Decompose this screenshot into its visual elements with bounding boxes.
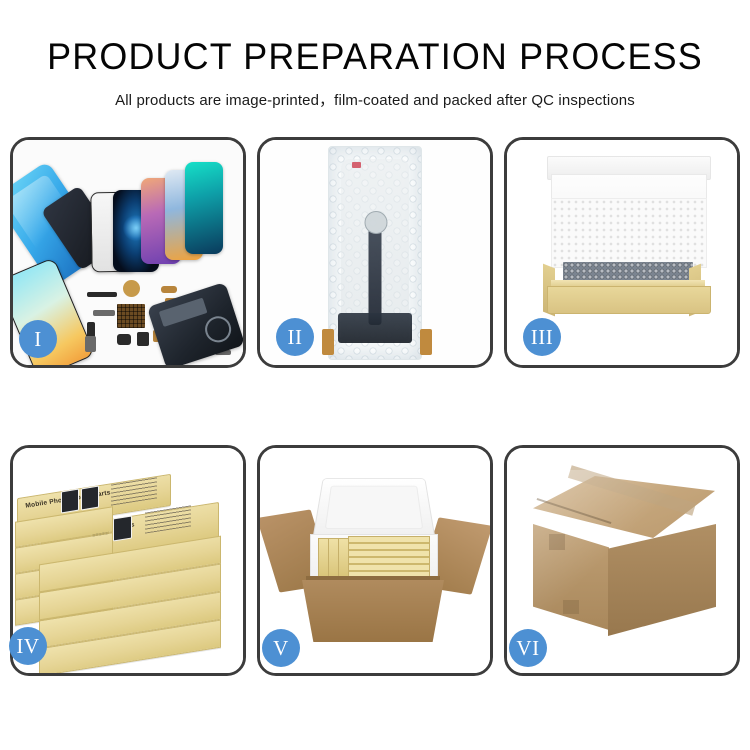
- part-camera-module-icon: [117, 334, 131, 345]
- kraft-tray-front-icon: [547, 286, 711, 314]
- step-badge-5: V: [262, 629, 300, 667]
- step-4-image: Mobile Phone Spare Parts Mobile Phone Sp…: [13, 448, 243, 673]
- copper-tab-left-icon: [322, 329, 334, 355]
- bubble-wrap-bag-icon: [328, 146, 422, 360]
- box-screen-art-1b: [81, 486, 99, 511]
- process-step-panel-6[interactable]: VI: [504, 445, 740, 676]
- carton-hand-hole-1-icon: [549, 534, 565, 550]
- part-chip-grid-icon: [117, 304, 145, 328]
- part-sim-tray-icon: [85, 336, 96, 352]
- part-strip-icon: [87, 292, 117, 297]
- page-header: PRODUCT PREPARATION PROCESS All products…: [0, 0, 750, 110]
- retail-box-stack-scene: Mobile Phone Spare Parts Mobile Phone Sp…: [13, 448, 243, 673]
- carton-hand-hole-2-icon: [563, 600, 579, 614]
- step-badge-6: VI: [509, 629, 547, 667]
- step-badge-2: II: [276, 318, 314, 356]
- process-step-panel-1[interactable]: I: [10, 137, 246, 368]
- page-subtitle: All products are image-printed，film-coat…: [6, 75, 745, 110]
- process-step-grid: I II: [10, 137, 740, 676]
- part-bracket-icon: [93, 310, 115, 316]
- screen-flex-cable-icon: [369, 229, 382, 325]
- qc-sticker-icon: [352, 162, 361, 168]
- box-screen-art-2b: [113, 515, 132, 541]
- box-screen-art-1a: [61, 489, 79, 514]
- foam-case-lid-icon: [312, 478, 436, 540]
- carton-front-panel-icon: [302, 580, 444, 642]
- box-stack-icon: Mobile Phone Spare Parts Mobile Phone Sp…: [13, 458, 243, 673]
- part-speaker-icon: [137, 332, 149, 346]
- process-step-panel-5[interactable]: V: [257, 445, 493, 676]
- process-step-panel-4[interactable]: Mobile Phone Spare Parts Mobile Phone Sp…: [10, 445, 246, 676]
- step-badge-1: I: [19, 320, 57, 358]
- carton-right-face-icon: [608, 524, 716, 636]
- teal-gradient-phone-icon: [185, 162, 223, 254]
- carton-left-face-icon: [533, 524, 609, 630]
- process-step-panel-2[interactable]: II: [257, 137, 493, 368]
- step-badge-4: IV: [9, 627, 47, 665]
- step-badge-3: III: [523, 318, 561, 356]
- page-title: PRODUCT PREPARATION PROCESS: [11, 0, 739, 75]
- process-step-panel-3[interactable]: III: [504, 137, 740, 368]
- part-connector-icon: [161, 286, 177, 293]
- white-foam-sheet-icon: [551, 198, 707, 268]
- copper-tab-right-icon: [420, 329, 432, 355]
- part-coil-icon: [123, 280, 140, 297]
- screen-connector-icon: [338, 313, 412, 343]
